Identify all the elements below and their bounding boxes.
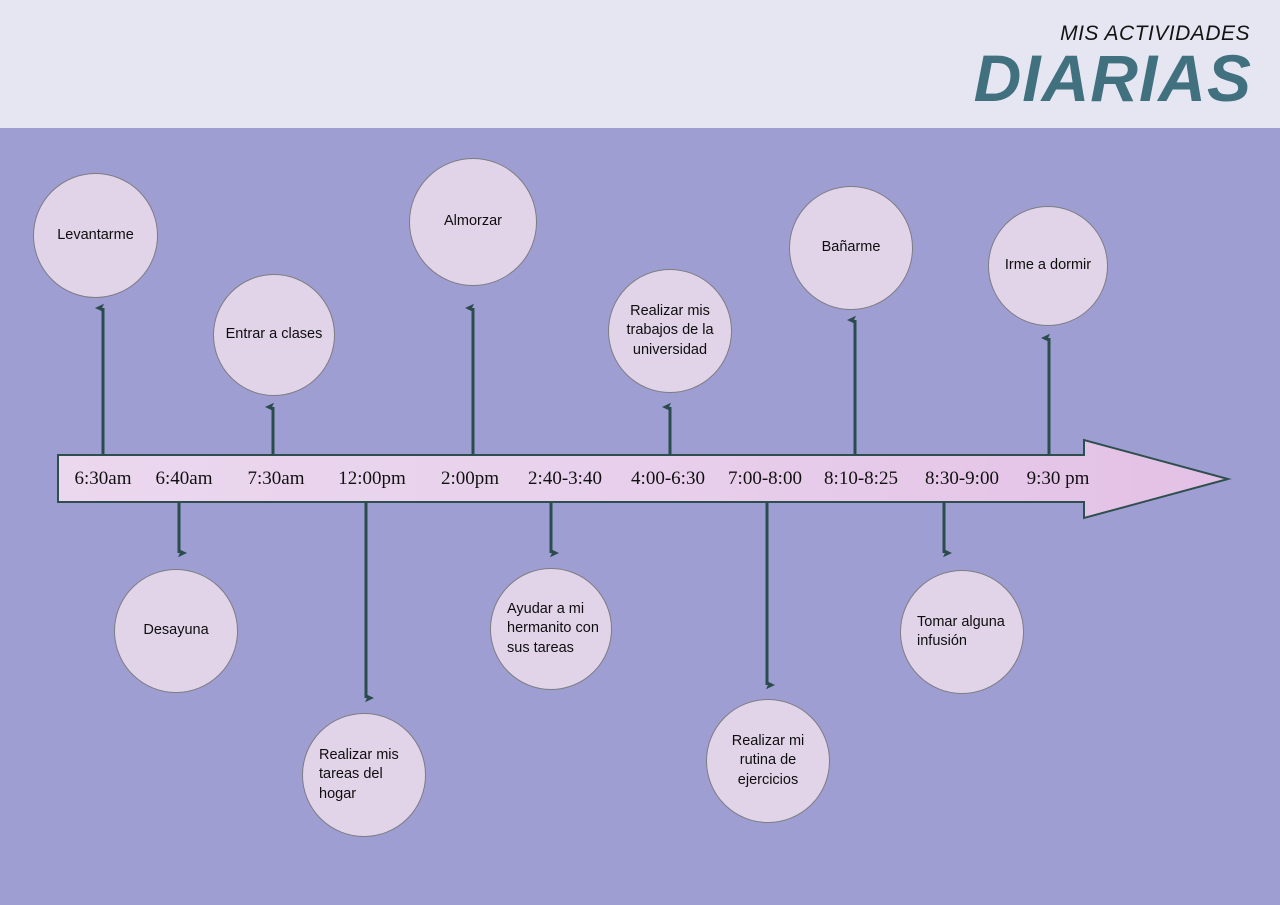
activity-node-desayuna[interactable]: Desayuna xyxy=(114,569,238,693)
activity-label: Almorzar xyxy=(410,212,536,232)
activity-label: Desayuna xyxy=(115,621,237,641)
activity-node-tomar-infusion[interactable]: Tomar alguna infusión xyxy=(900,570,1024,694)
activity-node-almorzar[interactable]: Almorzar xyxy=(409,158,537,286)
time-label-2: 7:30am xyxy=(248,456,305,502)
time-label-1: 6:40am xyxy=(156,456,213,502)
time-label-5: 2:40-3:40 xyxy=(528,456,602,502)
time-label-9: 8:30-9:00 xyxy=(925,456,999,502)
activity-label: Entrar a clases xyxy=(214,325,334,345)
activity-label: Tomar alguna infusión xyxy=(901,613,1023,652)
activity-node-trabajos-universidad[interactable]: Realizar mis trabajos de la universidad xyxy=(608,269,732,393)
activity-node-levantarme[interactable]: Levantarme xyxy=(33,173,158,298)
activity-node-tareas-hogar[interactable]: Realizar mis tareas del hogar xyxy=(302,713,426,837)
activity-label: Realizar mis tareas del hogar xyxy=(303,746,425,805)
page-title: DIARIAS xyxy=(974,42,1252,114)
activity-label: Bañarme xyxy=(790,238,912,258)
activity-node-irme-a-dormir[interactable]: Irme a dormir xyxy=(988,206,1108,326)
activity-node-banarme[interactable]: Bañarme xyxy=(789,186,913,310)
activity-label: Irme a dormir xyxy=(989,256,1107,276)
time-label-3: 12:00pm xyxy=(338,456,406,502)
activity-node-entrar-a-clases[interactable]: Entrar a clases xyxy=(213,274,335,396)
timeline-labels: 6:30am 6:40am 7:30am 12:00pm 2:00pm 2:40… xyxy=(58,456,1084,502)
time-label-10: 9:30 pm xyxy=(1027,456,1090,502)
activity-label: Realizar mi rutina de ejercicios xyxy=(707,732,829,791)
header-banner: MIS ACTIVIDADES DIARIAS xyxy=(0,0,1280,128)
time-label-7: 7:00-8:00 xyxy=(728,456,802,502)
time-label-6: 4:00-6:30 xyxy=(631,456,705,502)
time-label-8: 8:10-8:25 xyxy=(824,456,898,502)
activity-label: Ayudar a mi hermanito con sus tareas xyxy=(491,600,611,659)
activity-node-ayudar-hermanito[interactable]: Ayudar a mi hermanito con sus tareas xyxy=(490,568,612,690)
timeline-graphics-layer xyxy=(0,0,1280,905)
time-label-0: 6:30am xyxy=(75,456,132,502)
infographic-canvas: MIS ACTIVIDADES DIARIAS xyxy=(0,0,1280,905)
activity-node-rutina-ejercicios[interactable]: Realizar mi rutina de ejercicios xyxy=(706,699,830,823)
activity-label: Realizar mis trabajos de la universidad xyxy=(609,302,731,361)
time-label-4: 2:00pm xyxy=(441,456,499,502)
activity-label: Levantarme xyxy=(34,226,157,246)
